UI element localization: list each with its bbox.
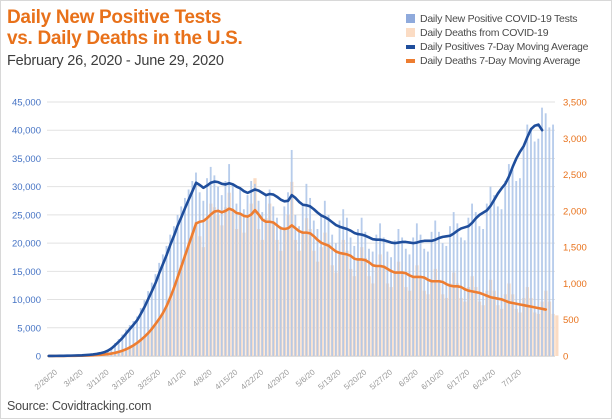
bar-positive bbox=[427, 252, 429, 356]
chart-container: Daily New Positive Tests vs. Daily Death… bbox=[1, 1, 611, 418]
bar-positive bbox=[375, 235, 377, 356]
x-axis-tick: 3/11/20 bbox=[85, 367, 111, 391]
bar-positive bbox=[335, 243, 337, 356]
bar-positive bbox=[188, 189, 190, 356]
y-axis-tick-left: 45,000 bbox=[12, 98, 41, 109]
bar-positive bbox=[394, 240, 396, 356]
y-axis-tick-left: 5,000 bbox=[17, 323, 41, 334]
bar-positive bbox=[346, 218, 348, 356]
x-axis-tick: 3/25/20 bbox=[136, 367, 163, 391]
bar-positive bbox=[265, 195, 267, 356]
bar-positive bbox=[423, 249, 425, 356]
bar-positive bbox=[438, 232, 440, 356]
bar-positive bbox=[515, 181, 517, 356]
source-note: Source: Covidtracking.com bbox=[7, 399, 151, 413]
bar-positive bbox=[383, 237, 385, 356]
bar-positive bbox=[361, 218, 363, 356]
y-axis-tick-left: 10,000 bbox=[12, 295, 41, 306]
bar-positive bbox=[342, 209, 344, 356]
bar-positive bbox=[250, 181, 252, 356]
bar-positive bbox=[324, 201, 326, 356]
bar-positive bbox=[460, 237, 462, 356]
bar-positive bbox=[398, 229, 400, 356]
bar-positive bbox=[261, 212, 263, 356]
x-axis-tick: 4/22/20 bbox=[239, 367, 266, 391]
bar-positive bbox=[501, 209, 503, 356]
bar-positive bbox=[210, 167, 212, 356]
bar-positive bbox=[177, 215, 179, 356]
x-axis-tick: 4/29/20 bbox=[265, 367, 292, 391]
bar-positive bbox=[519, 178, 521, 356]
x-axis-tick: 4/8/20 bbox=[191, 367, 214, 389]
bar-positive bbox=[243, 209, 245, 356]
x-axis-tick: 3/4/20 bbox=[62, 367, 85, 389]
bar-positive bbox=[445, 246, 447, 356]
bar-positive bbox=[493, 195, 495, 356]
x-axis-tick: 3/18/20 bbox=[110, 367, 137, 391]
bar-positive bbox=[530, 130, 532, 356]
x-axis-tick: 6/24/20 bbox=[471, 367, 498, 391]
bar-positive bbox=[479, 226, 481, 356]
y-axis-tick-right: 3,000 bbox=[563, 134, 587, 145]
bar-positive bbox=[302, 204, 304, 356]
x-axis-tick: 4/1/20 bbox=[165, 367, 188, 389]
bar-positive bbox=[269, 189, 271, 356]
bar-positive bbox=[206, 178, 208, 356]
y-axis-tick-right: 1,500 bbox=[563, 243, 587, 254]
bar-positive bbox=[552, 125, 554, 356]
bar-positive bbox=[372, 252, 374, 356]
bar-positive bbox=[202, 201, 204, 356]
bar-positive bbox=[490, 187, 492, 356]
x-axis-tick: 6/10/20 bbox=[419, 367, 446, 391]
bar-positive bbox=[280, 226, 282, 356]
bar-positive bbox=[409, 254, 411, 356]
bar-positive bbox=[228, 164, 230, 356]
bar-positive bbox=[298, 226, 300, 356]
bar-positive bbox=[523, 147, 525, 356]
chart-plot: 05,00010,00015,00020,00025,00030,00035,0… bbox=[1, 1, 612, 420]
bar-positive bbox=[541, 108, 543, 356]
bar-positive bbox=[258, 201, 260, 356]
bar-positive bbox=[313, 221, 315, 356]
bar-positive bbox=[475, 212, 477, 356]
y-axis-tick-left: 25,000 bbox=[12, 210, 41, 221]
y-axis-tick-right: 3,500 bbox=[563, 98, 587, 109]
bar-positive bbox=[442, 243, 444, 356]
bar-positive bbox=[276, 218, 278, 356]
y-axis-tick-left: 20,000 bbox=[12, 239, 41, 250]
y-axis-tick-right: 1,000 bbox=[563, 279, 587, 290]
bar-positive bbox=[545, 113, 547, 356]
bar-positive bbox=[191, 181, 193, 356]
x-axis-tick: 5/27/20 bbox=[368, 367, 395, 391]
bar-positive bbox=[236, 204, 238, 356]
bar-positive bbox=[471, 204, 473, 356]
x-axis-tick: 4/15/20 bbox=[213, 367, 240, 391]
y-axis-tick-right: 0 bbox=[563, 352, 568, 363]
bar-positive bbox=[431, 232, 433, 356]
bar-positive bbox=[482, 229, 484, 356]
bar-positive bbox=[526, 125, 528, 356]
y-axis-tick-right: 2,000 bbox=[563, 206, 587, 217]
bar-positive bbox=[357, 229, 359, 356]
bar-positive bbox=[368, 249, 370, 356]
bar-positive bbox=[486, 204, 488, 356]
bar-positive bbox=[309, 198, 311, 356]
bar-positive bbox=[213, 175, 215, 356]
bar-positive bbox=[184, 198, 186, 356]
bar-positive bbox=[420, 235, 422, 356]
x-axis-tick: 6/17/20 bbox=[445, 367, 472, 391]
y-axis-tick-left: 40,000 bbox=[12, 126, 41, 137]
bar-positive bbox=[379, 223, 381, 356]
y-axis-tick-left: 0 bbox=[36, 352, 41, 363]
bar-positive bbox=[401, 237, 403, 356]
bar-positive bbox=[467, 218, 469, 356]
bar-positive bbox=[195, 173, 197, 356]
bar-positive bbox=[225, 181, 227, 356]
bar-positive bbox=[497, 206, 499, 356]
y-axis-tick-right: 500 bbox=[563, 315, 579, 326]
x-axis-tick: 2/26/20 bbox=[33, 367, 60, 391]
x-axis-tick: 5/13/20 bbox=[316, 367, 343, 391]
bar-positive bbox=[305, 184, 307, 356]
bar-positive bbox=[353, 246, 355, 356]
bar-positive bbox=[162, 254, 164, 356]
bar-positive bbox=[291, 150, 293, 356]
y-axis-tick-left: 15,000 bbox=[12, 267, 41, 278]
bar-death bbox=[555, 315, 558, 356]
x-axis-tick: 6/3/20 bbox=[397, 367, 420, 389]
bar-positive bbox=[331, 235, 333, 356]
bar-positive bbox=[456, 223, 458, 356]
bar-positive bbox=[548, 127, 550, 356]
bar-positive bbox=[272, 206, 274, 356]
bar-positive bbox=[199, 192, 201, 356]
bar-positive bbox=[294, 215, 296, 356]
bar-positive bbox=[464, 240, 466, 356]
bar-positive bbox=[320, 215, 322, 356]
x-axis-tick: 5/20/20 bbox=[342, 367, 369, 391]
bar-positive bbox=[364, 232, 366, 356]
bar-positive bbox=[247, 195, 249, 356]
bar-positive bbox=[166, 246, 168, 356]
y-axis-tick-left: 35,000 bbox=[12, 154, 41, 165]
bar-positive bbox=[537, 139, 539, 356]
bar-positive bbox=[504, 181, 506, 356]
bar-positive bbox=[508, 164, 510, 356]
bar-positive bbox=[534, 142, 536, 356]
bar-positive bbox=[328, 215, 330, 356]
bar-positive bbox=[412, 237, 414, 356]
bar-positive bbox=[339, 221, 341, 356]
y-axis-tick-right: 2,500 bbox=[563, 170, 587, 181]
y-axis-tick-left: 30,000 bbox=[12, 182, 41, 193]
bar-positive bbox=[221, 195, 223, 356]
bar-positive bbox=[449, 226, 451, 356]
bar-positive bbox=[405, 249, 407, 356]
x-axis-tick: 7/1/20 bbox=[500, 367, 523, 389]
bar-positive bbox=[180, 206, 182, 356]
bar-positive bbox=[512, 170, 514, 356]
bar-positive bbox=[317, 229, 319, 356]
x-axis-tick: 5/6/20 bbox=[294, 367, 317, 389]
bar-positive bbox=[287, 192, 289, 356]
